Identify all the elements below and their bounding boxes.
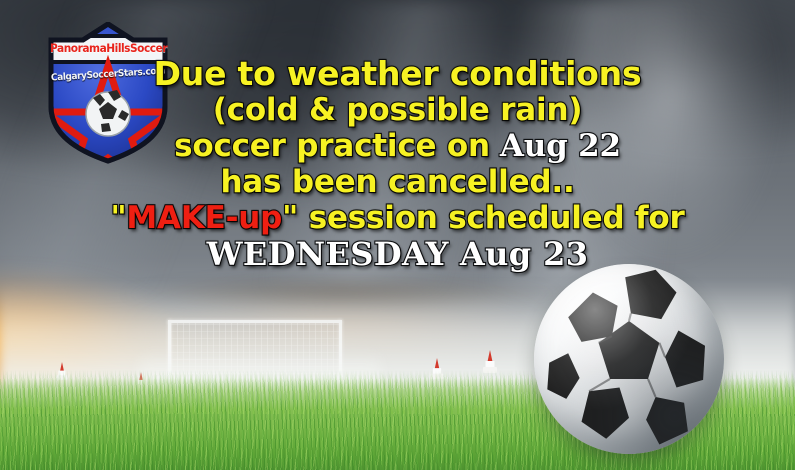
goal-crossbar (168, 320, 342, 323)
club-logo[interactable]: PanoramaHillsSoccer CalgarySoccerStars.c… (45, 22, 171, 164)
storm-light-shaft (509, 0, 779, 282)
announcement-poster: PanoramaHillsSoccer CalgarySoccerStars.c… (0, 0, 795, 470)
logo-club-name: PanoramaHillsSoccer (50, 41, 166, 55)
soccer-ball-icon (534, 264, 724, 454)
soccer-ball (534, 264, 724, 454)
